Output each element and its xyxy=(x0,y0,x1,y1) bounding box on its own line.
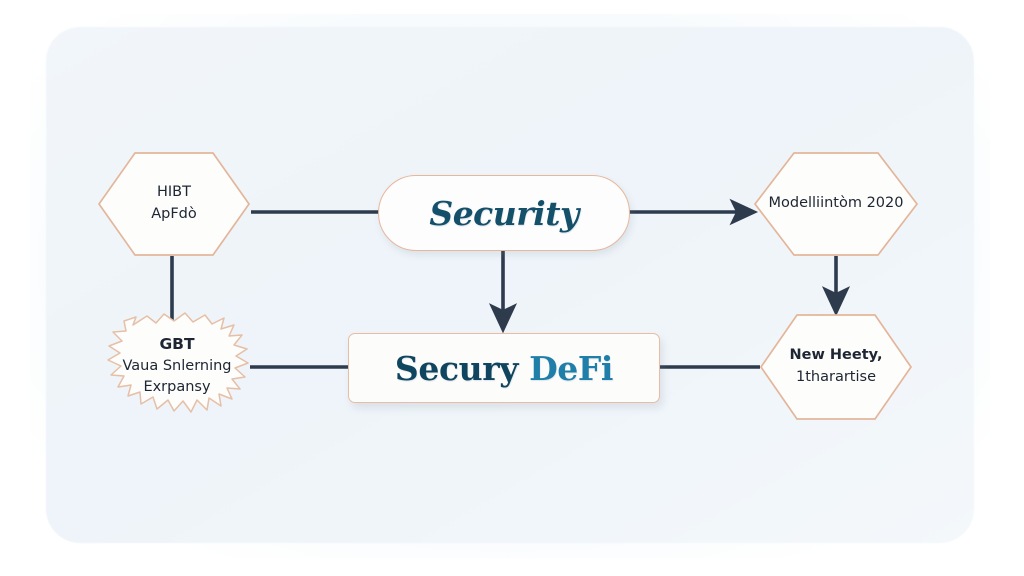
node-secury-defi-label-light: DeFi xyxy=(529,349,613,388)
node-secury-defi-label-dark: Secury xyxy=(395,349,518,388)
diagram-canvas: HIBT ApFdò Security Modelliintòm 2020 GB… xyxy=(0,0,1024,576)
node-secury-defi-label: Secury DeFi xyxy=(395,349,613,388)
node-gbt-line2: Vaua Snlerning xyxy=(122,356,231,377)
node-gbt-line1: GBT xyxy=(159,333,194,356)
node-new-heety[interactable]: New Heety, 1tharartise xyxy=(758,312,914,422)
node-security-label: Security xyxy=(429,194,578,233)
node-secury-defi[interactable]: Secury DeFi xyxy=(348,333,660,403)
node-hibt[interactable]: HIBT ApFdò xyxy=(96,150,252,258)
background-panel xyxy=(46,27,974,543)
node-modelliintom-line1: Modelliintòm 2020 xyxy=(768,193,903,215)
node-modelliintom[interactable]: Modelliintòm 2020 xyxy=(752,150,920,258)
node-new-heety-line2: 1tharartise xyxy=(796,367,876,389)
node-gbt-line3: Exrpansy xyxy=(143,377,210,398)
node-hibt-line2: ApFdò xyxy=(151,204,197,226)
node-security[interactable]: Security xyxy=(378,175,630,251)
node-gbt-blob[interactable]: GBT Vaua Snlerning Exrpansy xyxy=(102,305,252,427)
node-hibt-line1: HIBT xyxy=(157,182,191,204)
node-new-heety-line1: New Heety, xyxy=(790,345,883,367)
